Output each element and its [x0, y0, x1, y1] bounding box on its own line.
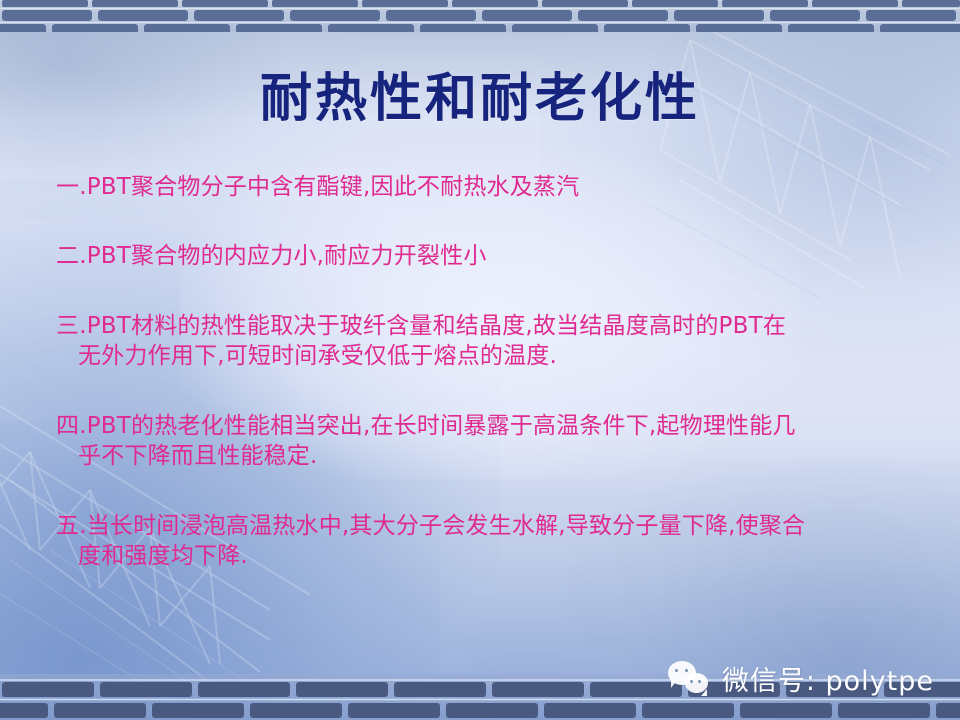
list-item-line-continued: 度和强度均下降.: [56, 541, 936, 571]
list-item-line: 二.PBT聚合物的内应力小,耐应力开裂性小: [56, 243, 487, 269]
wechat-logo-icon: [668, 661, 712, 697]
list-item-line: 四.PBT的热老化性能相当突出,在长时间暴露于高温条件下,起物理性能几: [56, 413, 796, 439]
list-item-line: 三.PBT材料的热性能取决于玻纤含量和结晶度,故当结晶度高时的PBT在: [56, 313, 786, 339]
spacer: [56, 371, 936, 411]
list-item-line-continued: 无外力作用下,可短时间承受仅低于熔点的温度.: [56, 341, 936, 371]
list-item-line: 一.PBT聚合物分子中含有酯键,因此不耐热水及蒸汽: [56, 174, 579, 200]
spacer: [56, 271, 936, 311]
wechat-watermark: 微信号: polytpe: [668, 659, 934, 698]
list-item: 一.PBT聚合物分子中含有酯键,因此不耐热水及蒸汽: [56, 172, 936, 202]
presentation-slide: 耐热性和耐老化性 一.PBT聚合物分子中含有酯键,因此不耐热水及蒸汽 二.PBT…: [0, 0, 960, 720]
brick-border-top: [0, 0, 960, 32]
list-item-line: 五.当长时间浸泡高温热水中,其大分子会发生水解,导致分子量下降,使聚合: [56, 513, 805, 539]
list-item: 二.PBT聚合物的内应力小,耐应力开裂性小: [56, 241, 936, 271]
list-item: 四.PBT的热老化性能相当突出,在长时间暴露于高温条件下,起物理性能几 乎不下降…: [56, 411, 936, 471]
list-item: 五.当长时间浸泡高温热水中,其大分子会发生水解,导致分子量下降,使聚合 度和强度…: [56, 511, 936, 571]
wechat-id-label: 微信号: polytpe: [722, 659, 934, 698]
list-item: 三.PBT材料的热性能取决于玻纤含量和结晶度,故当结晶度高时的PBT在 无外力作…: [56, 311, 936, 371]
spacer: [56, 202, 936, 241]
slide-title: 耐热性和耐老化性: [0, 56, 960, 131]
list-item-line-continued: 乎不下降而且性能稳定.: [56, 441, 936, 471]
spacer: [56, 471, 936, 511]
brick-border-bottom: [0, 674, 960, 720]
slide-body-list: 一.PBT聚合物分子中含有酯键,因此不耐热水及蒸汽 二.PBT聚合物的内应力小,…: [56, 172, 936, 571]
